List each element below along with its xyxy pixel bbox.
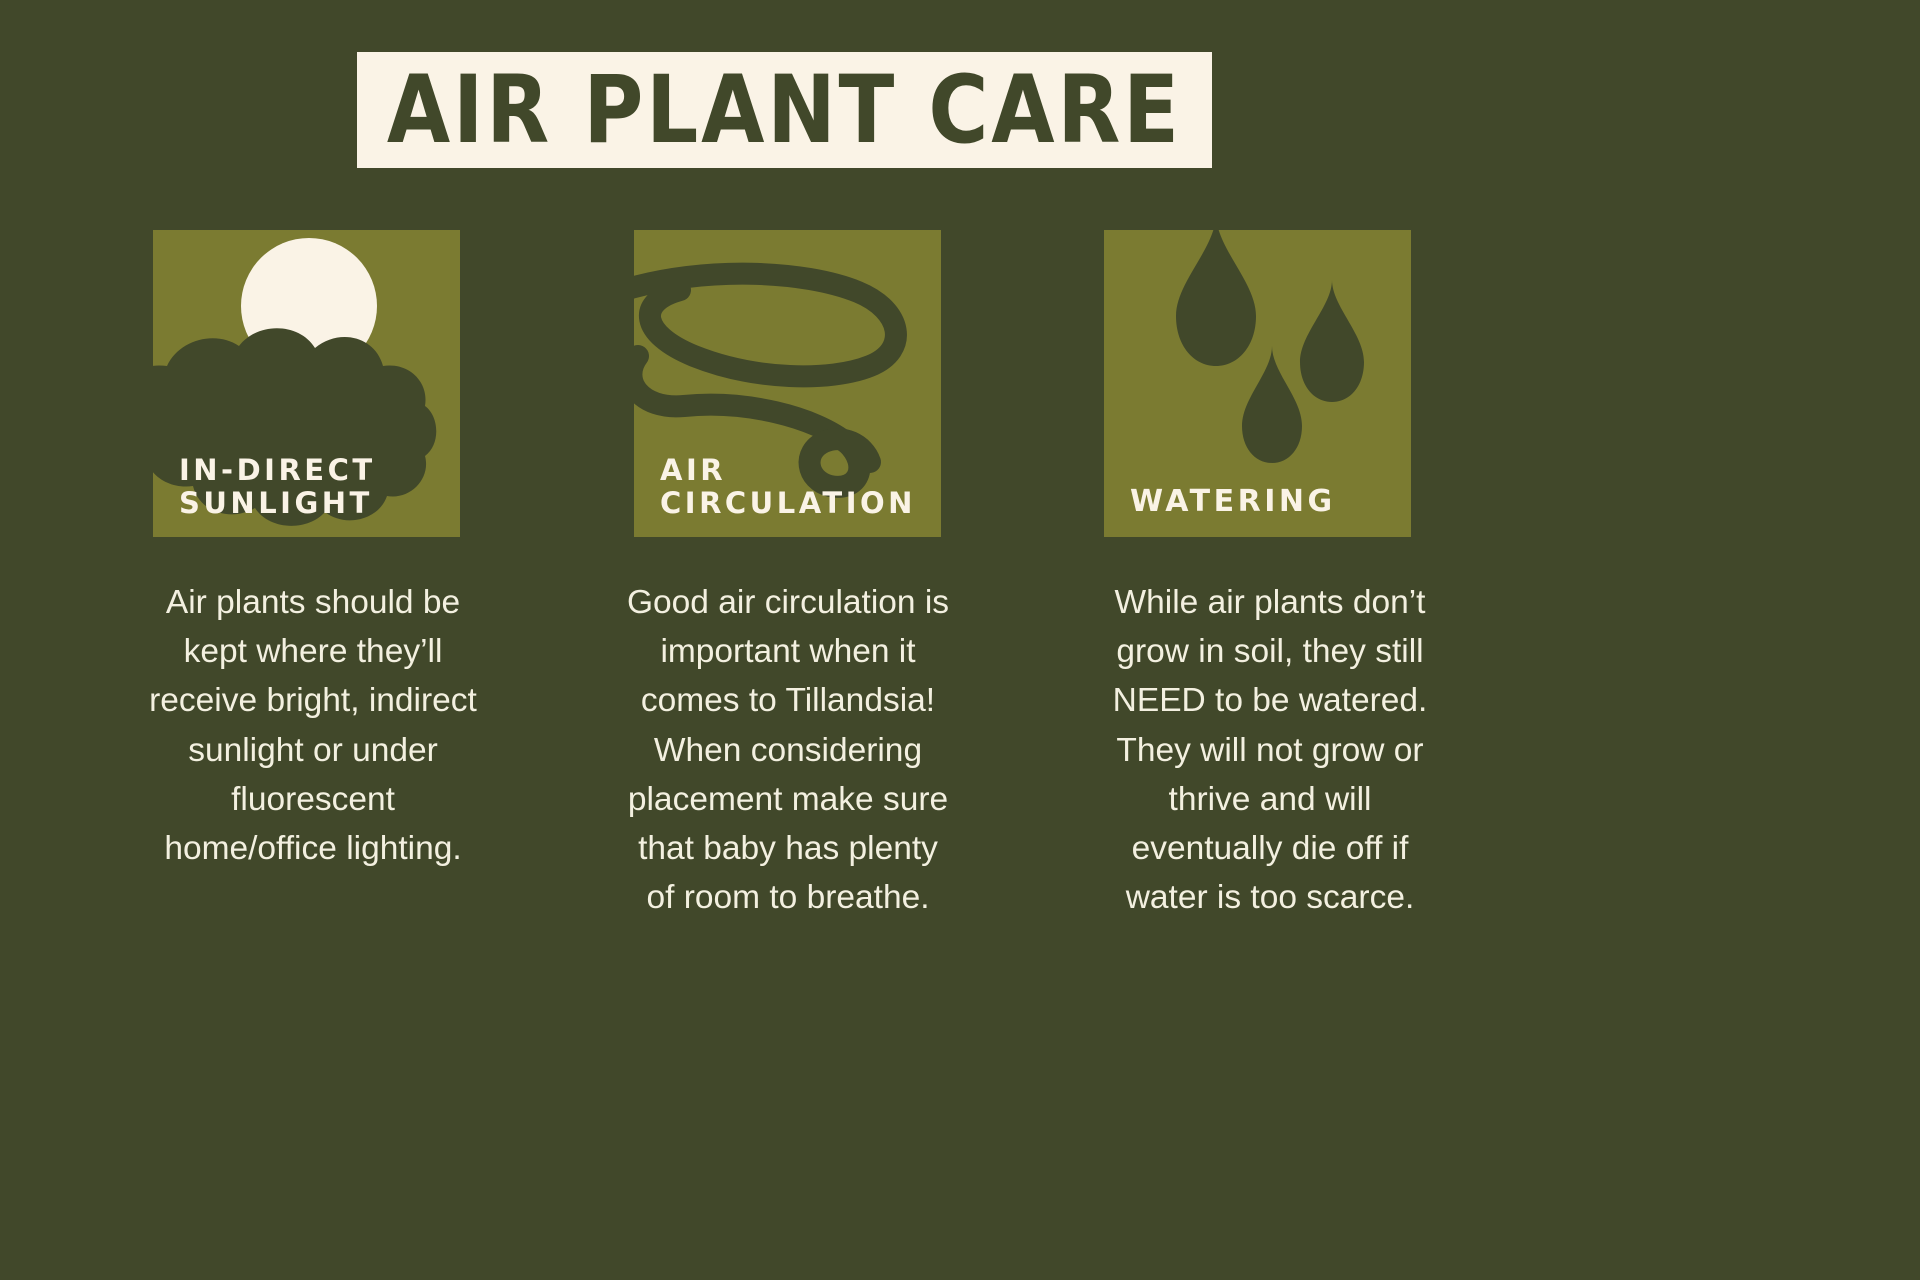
description-watering: While air plants don’t grow in soil, the…: [1095, 578, 1445, 923]
card-indirect-sunlight: IN-DIRECT SUNLIGHT: [153, 230, 460, 537]
page-title: AIR PLANT CARE: [387, 63, 1182, 156]
title-banner: AIR PLANT CARE: [357, 52, 1212, 168]
care-card-row: IN-DIRECT SUNLIGHT AIR CIRCULATION: [153, 230, 1411, 537]
card-air-circulation: AIR CIRCULATION: [634, 230, 941, 537]
air-plant-care-infographic: AIR PLANT CARE IN-DIRECT SUNLIGHT: [0, 0, 1920, 1280]
description-air-circulation: Good air circulation is important when i…: [623, 578, 953, 923]
card-watering: WATERING: [1104, 230, 1411, 537]
description-indirect-sunlight: Air plants should be kept where they’ll …: [148, 578, 478, 873]
card-label-watering: WATERING: [1130, 485, 1336, 519]
card-label-indirect-sunlight: IN-DIRECT SUNLIGHT: [179, 454, 376, 519]
card-label-air-circulation: AIR CIRCULATION: [660, 454, 916, 519]
